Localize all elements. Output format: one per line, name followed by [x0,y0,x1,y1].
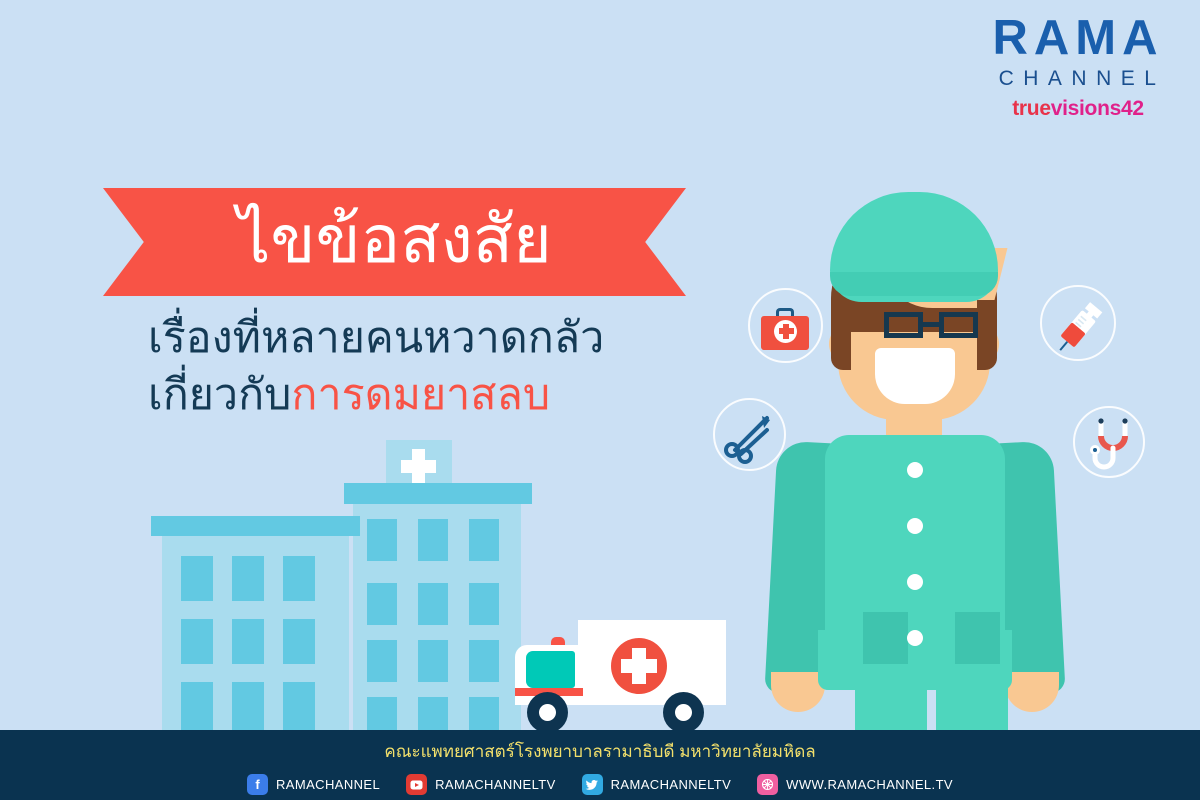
twitter-bird-glyph [585,779,599,791]
doctor-button-1 [907,462,923,478]
subtitle-line-2: เกี่ยวกับการดมยาสลบ [148,367,708,424]
window [469,697,499,730]
poster-canvas: RAMA CHANNEL truevisions42 ไขข้อสงสัย เร… [0,0,1200,800]
window [367,583,397,625]
ambulance-hub-front [539,704,556,721]
window [418,583,448,625]
facebook-handle: RAMACHANNEL [276,777,380,792]
logo-sub-text: CHANNEL [978,67,1178,91]
doctor-button-3 [907,574,923,590]
window [418,519,448,561]
syringe-icon [1040,285,1116,361]
window [283,682,315,730]
doctor-hand-right [1005,672,1059,712]
rama-channel-logo: RAMA CHANNEL truevisions42 [978,14,1178,121]
window [469,583,499,625]
website-icon[interactable] [757,774,778,795]
twitter-icon[interactable] [582,774,603,795]
window [469,519,499,561]
window [469,640,499,682]
title-ribbon: ไขข้อสงสัย [103,188,686,296]
doctor-hair-sideburn-right [977,300,997,370]
social-link-youtube[interactable]: RAMACHANNELTV [406,774,556,795]
social-link-facebook[interactable]: f RAMACHANNEL [247,774,380,795]
hospital-roof-left [151,516,360,536]
subtitle-block: เรื่องที่หลายคนหวาดกลัว เกี่ยวกับการดมยา… [148,310,708,424]
window [283,619,315,664]
subtitle-line-1: เรื่องที่หลายคนหวาดกลัว [148,310,708,367]
window [283,556,315,601]
truevisions-visions-text: visions [1051,97,1121,120]
doctor-button-4 [907,630,923,646]
stethoscope-glyph [1075,408,1147,480]
doctor-glasses-bridge [922,322,940,327]
scissors-icon [713,398,786,471]
website-url: WWW.RAMACHANNEL.TV [786,777,953,792]
doctor-button-2 [907,518,923,534]
youtube-icon[interactable] [406,774,427,795]
doctor-pocket-right [955,612,1000,664]
syringe-glyph [1042,287,1118,363]
doctor-pocket-left [863,612,908,664]
headline-title: ไขข้อสงสัย [237,206,552,278]
footer-social-links: f RAMACHANNEL RAMACHANNELTV [0,774,1200,795]
ambulance-cross-horizontal [621,659,657,673]
globe-glyph [761,778,774,791]
doctor-cap-band [830,272,998,296]
window [367,697,397,730]
doctor-hair-sideburn-left [831,300,851,370]
window [232,556,264,601]
hospital-roof-right [344,483,532,504]
window [232,682,264,730]
window [181,619,213,664]
window [181,682,213,730]
subtitle-line-2-plain: เกี่ยวกับ [148,371,291,419]
window [418,640,448,682]
twitter-handle: RAMACHANNELTV [611,777,732,792]
doctor-glasses-left-lens [884,312,923,338]
truevisions-true-text: true [1012,97,1050,120]
window [181,556,213,601]
truevisions-logo: truevisions42 [978,97,1178,121]
first-aid-kit-cross-h [779,328,794,334]
hospital-cross-icon-bar [401,460,436,473]
window [367,519,397,561]
window [418,697,448,730]
footer-bar: คณะแพทยศาสตร์โรงพยาบาลรามาธิบดี มหาวิทยา… [0,730,1200,800]
youtube-glyph [410,780,423,790]
truevisions-channel-number: 42 [1121,97,1144,120]
ambulance-window [526,651,575,688]
stethoscope-icon [1073,406,1145,478]
doctor-hand-left [771,672,825,712]
social-link-twitter[interactable]: RAMACHANNELTV [582,774,732,795]
facebook-icon[interactable]: f [247,774,268,795]
doctor-glasses-right-lens [939,312,978,338]
doctor-surgical-mask [875,348,955,404]
subtitle-line-2-highlight: การดมยาสลบ [291,371,550,419]
footer-organization-name: คณะแพทยศาสตร์โรงพยาบาลรามาธิบดี มหาวิทยา… [0,730,1200,765]
social-link-website[interactable]: WWW.RAMACHANNEL.TV [757,774,953,795]
scissors-glyph [715,400,788,473]
ambulance-hub-rear [675,704,692,721]
window [232,619,264,664]
logo-brand-text: RAMA [978,14,1178,62]
window [367,640,397,682]
youtube-handle: RAMACHANNELTV [435,777,556,792]
